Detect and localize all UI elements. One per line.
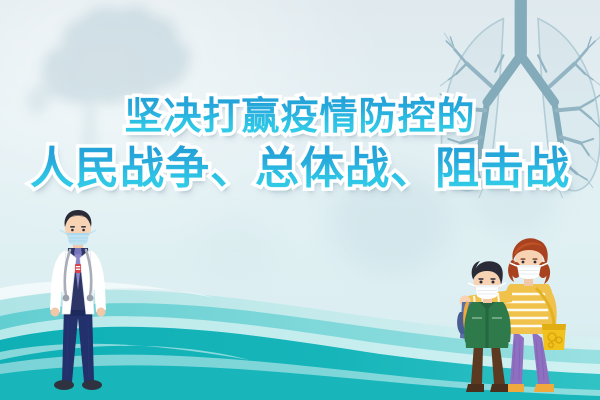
headline: 坚决打赢疫情防控的 坚决打赢疫情防控的 人民战争、总体战、阻击战 人民战争、总体… [0,96,600,193]
family-figures [0,0,600,400]
headline-line-2: 人民战争、总体战、阻击战 人民战争、总体战、阻击战 [0,145,600,193]
headline-line-2-text: 人民战争、总体战、阻击战 [30,143,570,194]
headline-line-1: 坚决打赢疫情防控的 坚决打赢疫情防控的 [0,96,600,137]
child-figure [457,261,511,392]
headline-line-1-text: 坚决打赢疫情防控的 [124,94,475,138]
poster-canvas: 坚决打赢疫情防控的 坚决打赢疫情防控的 人民战争、总体战、阻击战 人民战争、总体… [0,0,600,400]
